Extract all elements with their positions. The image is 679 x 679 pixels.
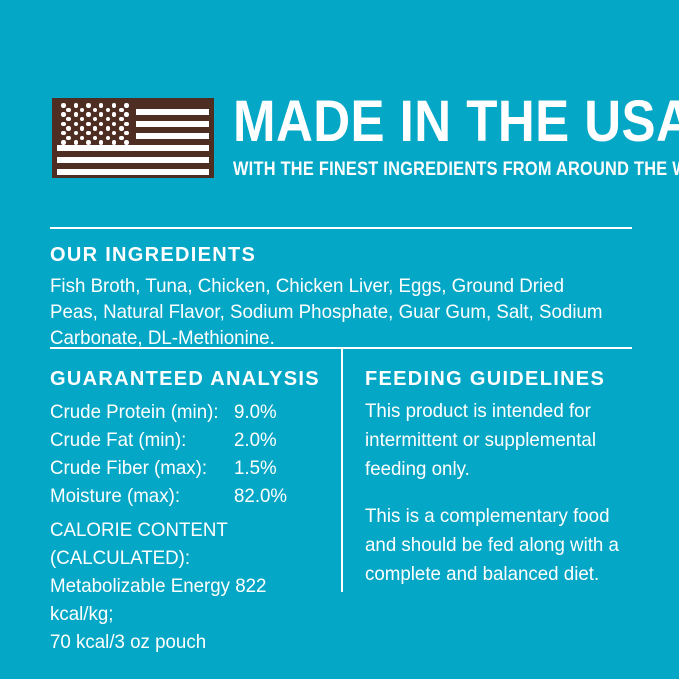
ga-value: 82.0% [234, 482, 287, 510]
flag-star-icon [124, 103, 128, 107]
flag-star-icon [112, 140, 116, 144]
flag-star-icon [112, 112, 116, 116]
ga-value: 2.0% [234, 426, 277, 454]
feeding-guidelines-paragraph-2: This is a complementary food and should … [365, 502, 622, 589]
flag-star-icon [66, 108, 70, 112]
flag-star-row [57, 126, 133, 131]
flag-star-icon [80, 108, 84, 112]
made-in-usa-headline: MADE IN THE USA [233, 92, 584, 152]
flag-star-icon [66, 126, 70, 130]
ga-value: 9.0% [234, 398, 277, 426]
ga-value: 1.5% [234, 454, 277, 482]
guaranteed-analysis-table: Crude Protein (min): 9.0% Crude Fat (min… [50, 398, 330, 510]
ga-label: Crude Protein (min): [50, 398, 227, 426]
flag-star-row [57, 136, 133, 141]
flag-star-icon [61, 122, 65, 126]
table-row: Moisture (max): 82.0% [50, 482, 330, 510]
banner-text-block: MADE IN THE USA WITH THE FINEST INGREDIE… [233, 92, 632, 181]
divider-top [50, 227, 632, 229]
flag-star-icon [74, 103, 78, 107]
flag-star-icon [119, 126, 123, 130]
flag-star-icon [61, 140, 65, 144]
flag-star-icon [99, 140, 103, 144]
flag-star-icon [119, 136, 123, 140]
calorie-content-line-1: Metabolizable Energy 822 kcal/kg; [50, 572, 319, 628]
ga-label: Crude Fat (min): [50, 426, 227, 454]
flag-star-icon [80, 136, 84, 140]
ga-label: Moisture (max): [50, 482, 227, 510]
table-row: Crude Fiber (max): 1.5% [50, 454, 330, 482]
flag-star-row [57, 117, 133, 122]
flag-star-icon [124, 112, 128, 116]
flag-star-icon [86, 103, 90, 107]
flag-star-icon [124, 140, 128, 144]
flag-star-icon [99, 103, 103, 107]
divider-vertical [341, 349, 343, 592]
table-row: Crude Fat (min): 2.0% [50, 426, 330, 454]
feeding-guidelines-paragraph-1: This product is intended for intermitten… [365, 397, 622, 484]
flag-canton [57, 103, 133, 145]
flag-star-row [57, 140, 133, 145]
feeding-guidelines-section: FEEDING GUIDELINES This product is inten… [365, 367, 633, 589]
flag-star-icon [86, 122, 90, 126]
flag-star-icon [66, 136, 70, 140]
flag-stripe [136, 121, 209, 127]
flag-stripes [57, 103, 209, 173]
ingredients-section: OUR INGREDIENTS Fish Broth, Tuna, Chicke… [50, 243, 632, 351]
flag-stripe [57, 157, 209, 163]
guaranteed-analysis-title: GUARANTEED ANALYSIS [50, 367, 330, 391]
flag-star-icon [93, 126, 97, 130]
ingredients-text: Fish Broth, Tuna, Chicken, Chicken Liver… [50, 273, 609, 351]
flag-stripe [136, 109, 209, 115]
flag-star-icon [119, 108, 123, 112]
feeding-guidelines-title: FEEDING GUIDELINES [365, 367, 633, 391]
flag-star-icon [112, 103, 116, 107]
flag-star-icon [74, 140, 78, 144]
table-row: Crude Protein (min): 9.0% [50, 398, 330, 426]
usa-flag-icon [52, 98, 214, 178]
flag-star-icon [61, 103, 65, 107]
flag-stripe [136, 133, 209, 139]
ingredients-title: OUR INGREDIENTS [50, 243, 632, 267]
flag-star-icon [61, 131, 65, 135]
flag-star-icon [86, 140, 90, 144]
flag-star-icon [124, 122, 128, 126]
ga-label: Crude Fiber (max): [50, 454, 227, 482]
made-in-usa-banner: MADE IN THE USA WITH THE FINEST INGREDIE… [50, 92, 632, 184]
made-in-usa-subheadline: WITH THE FINEST INGREDIENTS FROM AROUND … [233, 159, 576, 181]
product-label-panel: MADE IN THE USA WITH THE FINEST INGREDIE… [0, 0, 679, 679]
flag-star-icon [80, 126, 84, 130]
flag-star-icon [74, 112, 78, 116]
calorie-content-title: CALORIE CONTENT (CALCULATED): [50, 516, 319, 572]
flag-stripe [57, 169, 209, 175]
flag-star-row [57, 108, 133, 113]
flag-star-icon [61, 112, 65, 116]
flag-stripe [57, 145, 209, 151]
calorie-content-line-2: 70 kcal/3 oz pouch [50, 628, 319, 656]
guaranteed-analysis-section: GUARANTEED ANALYSIS Crude Protein (min):… [50, 367, 330, 656]
flag-star-icon [86, 112, 90, 116]
